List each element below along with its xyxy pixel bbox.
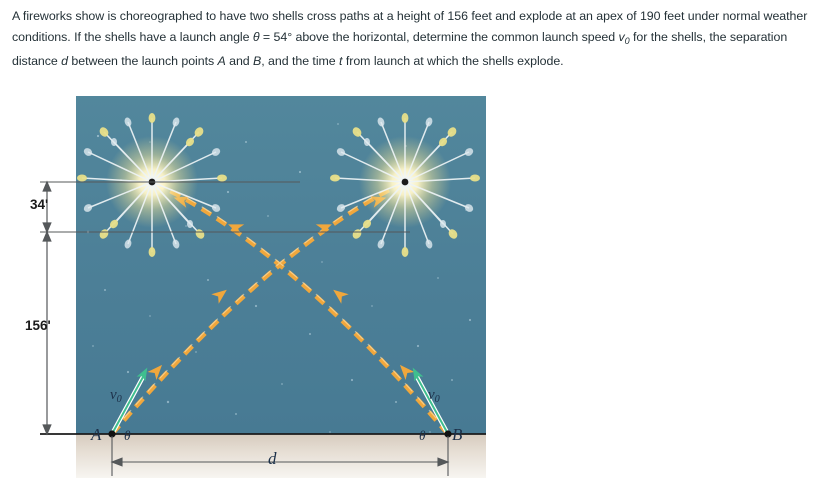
problem-text-1: A fireworks show is choreographed to hav…	[12, 9, 447, 23]
angle-equals: =	[260, 30, 274, 44]
dimension-156	[43, 232, 51, 434]
velocity-right-subscript: 0	[435, 394, 440, 405]
velocity-left-letter: v	[110, 387, 117, 403]
dimension-label-34: 34'	[30, 197, 48, 212]
label-velocity-right: v0	[428, 387, 440, 405]
problem-text-7: , and the time	[261, 54, 339, 68]
angle-value: 54°	[274, 30, 293, 44]
label-theta-right: θ	[419, 428, 426, 444]
apex-height-value: 190 feet	[640, 9, 684, 23]
problem-text-and: and	[226, 54, 253, 68]
problem-text-4: above the horizontal, determine the comm…	[292, 30, 618, 44]
problem-statement: A fireworks show is choreographed to hav…	[12, 6, 824, 72]
dimension-label-156: 156'	[25, 318, 51, 333]
problem-text-2: and explode at an apex of	[492, 9, 640, 23]
velocity-left-subscript: 0	[117, 394, 122, 405]
label-separation-distance: d	[268, 449, 277, 469]
burst-center-dot-right	[402, 179, 409, 186]
problem-text-8: from launch at which the shells explode.	[342, 54, 563, 68]
angle-symbol: θ	[253, 30, 260, 44]
label-velocity-left: v0	[110, 387, 122, 405]
figure-canvas	[0, 84, 833, 483]
problem-text-6: between the launch points	[68, 54, 218, 68]
fireworks-figure: 34' 156' A B v0 v0 θ θ d	[0, 84, 833, 483]
label-point-b: B	[452, 425, 462, 445]
cross-height-value: 156 feet	[447, 9, 491, 23]
velocity-right-letter: v	[428, 387, 435, 403]
label-point-a: A	[91, 425, 101, 445]
point-a-ref: A	[218, 54, 226, 68]
label-theta-left: θ	[124, 428, 131, 444]
launch-speed-symbol: v0	[619, 30, 630, 44]
distance-symbol: d	[61, 54, 68, 68]
